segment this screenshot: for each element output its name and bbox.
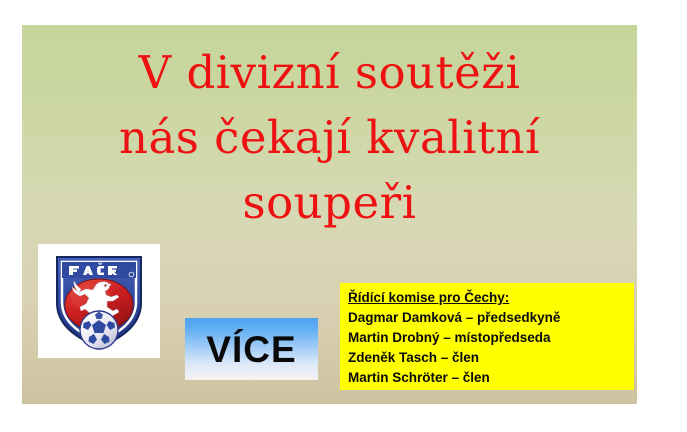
vice-button-label: VÍCE bbox=[206, 331, 296, 368]
vice-button[interactable]: VÍCE bbox=[185, 318, 318, 380]
facr-logo-icon bbox=[51, 251, 147, 351]
committee-member: Martin Schröter – člen bbox=[348, 368, 634, 388]
committee-info-box: Řídící komise pro Čechy: Dagmar Damková … bbox=[340, 283, 634, 390]
committee-heading: Řídící komise pro Čechy: bbox=[348, 288, 634, 308]
facr-logo-container bbox=[38, 244, 160, 358]
slide-canvas: V divizní soutěži nás čekají kvalitní so… bbox=[22, 25, 637, 404]
committee-member: Martin Drobný – místopředseda bbox=[348, 328, 634, 348]
committee-member: Dagmar Damková – předsedkyně bbox=[348, 308, 634, 328]
slide-title: V divizní soutěži nás čekají kvalitní so… bbox=[22, 41, 637, 235]
committee-member: Zdeněk Tasch – člen bbox=[348, 348, 634, 368]
